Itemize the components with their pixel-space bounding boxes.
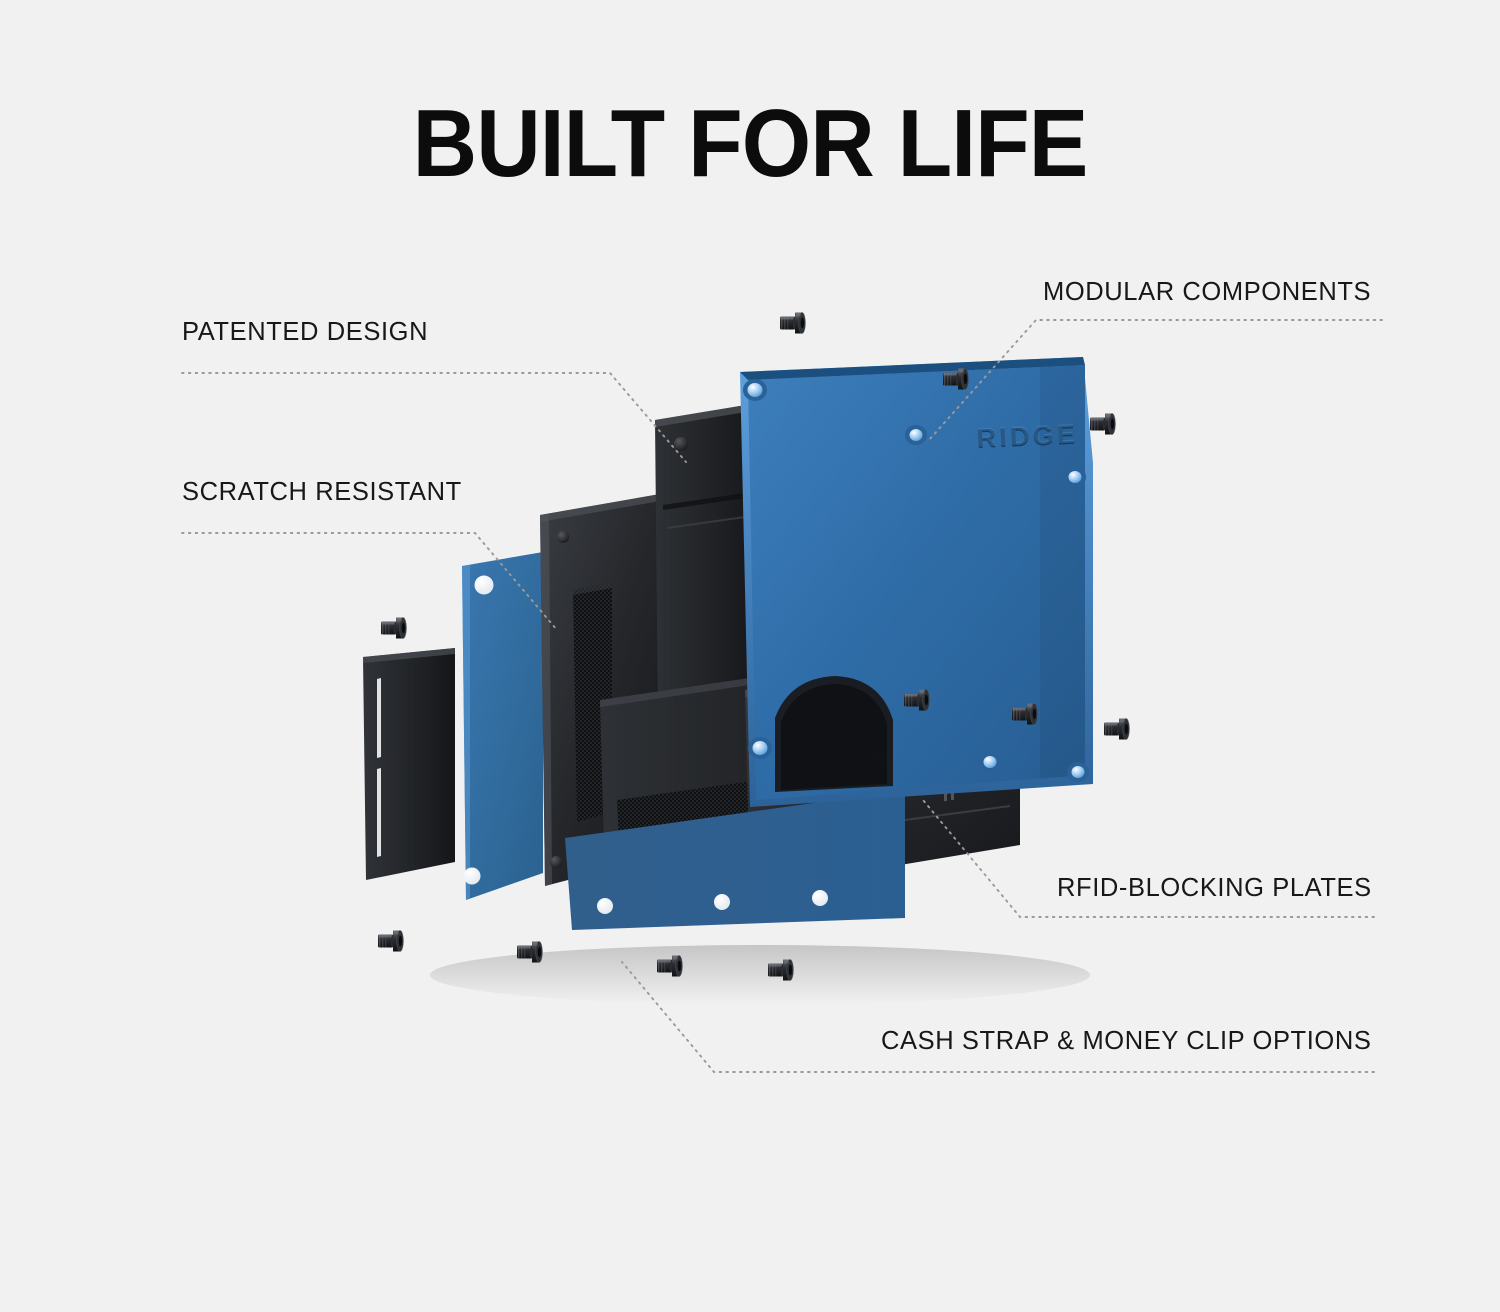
screw-7	[381, 618, 406, 639]
screw-layer	[0, 0, 1500, 1312]
screw-8	[378, 931, 403, 952]
screw-10	[657, 956, 682, 977]
screw-4	[904, 690, 929, 711]
screw-2	[943, 369, 968, 390]
screw-5	[1012, 704, 1037, 725]
screw-1	[780, 313, 805, 334]
screw-6	[1104, 719, 1129, 740]
screw-3	[1090, 414, 1115, 435]
screw-9	[517, 942, 542, 963]
diagram-canvas: BUILT FOR LIFE	[0, 0, 1500, 1312]
screw-11	[768, 960, 793, 981]
